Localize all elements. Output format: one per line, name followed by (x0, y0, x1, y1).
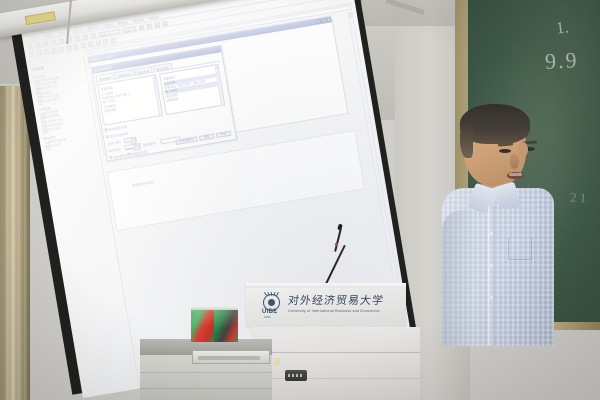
window-curtain (0, 86, 30, 400)
sort-order-select[interactable]: 按名称升序 (125, 143, 142, 151)
university-name-english: University of International Business and… (288, 309, 380, 313)
copy-icon[interactable] (75, 35, 81, 41)
number-list-icon[interactable] (66, 45, 72, 51)
open-folder-icon[interactable] (35, 42, 41, 48)
menu-item-tools[interactable]: 工具(T) (102, 21, 113, 28)
justify-icon[interactable] (51, 47, 57, 53)
lectern-handle[interactable] (274, 358, 280, 366)
checkbox-box-icon[interactable] (106, 135, 109, 138)
keyboard-tray[interactable] (192, 350, 270, 364)
housing-label-sticker (25, 11, 56, 25)
lectern-seam (250, 352, 420, 353)
menu-item-format[interactable]: 格式(O) (87, 24, 98, 31)
chalk-note-1: 1. (555, 17, 570, 38)
chalk-note-2: 9.9 (544, 47, 579, 75)
modal-dialog[interactable]: 基本信息维护 基本情况 详细资料 附加信息 备注说明 可选项目： (91, 45, 237, 162)
shirt-button (490, 232, 493, 235)
available-items-listbox[interactable]: 可选项目： 企业名称 注册地址 法定代表人 统一代码 行业类别 经营范围 (97, 74, 163, 125)
menu-item-file[interactable]: 文件(F) (28, 34, 39, 41)
product-box-right (214, 310, 238, 342)
print-icon[interactable] (51, 39, 57, 45)
save-icon[interactable] (43, 40, 49, 46)
chalk-note-3: 2 1 (569, 189, 586, 206)
scroll-thumb[interactable] (349, 13, 353, 18)
paste-icon[interactable] (82, 34, 88, 40)
zoom-icon[interactable] (110, 37, 116, 43)
product-box-left (191, 310, 214, 342)
bold-icon[interactable]: B (139, 24, 145, 30)
eye-left (499, 149, 511, 153)
selected-items-listbox[interactable]: 已选项目： 企业名称 注册地址 法定代表人 登记日期 统一代码 行业类别 经营范… (159, 64, 225, 115)
menu-item-insert[interactable]: 插入(I) (73, 27, 83, 33)
cabinet-seam (140, 372, 272, 373)
box-highlight (191, 310, 214, 342)
checkbox-box-icon[interactable] (109, 156, 112, 159)
new-document-icon[interactable] (27, 43, 33, 49)
underline-icon[interactable]: U (154, 22, 160, 28)
italic-icon[interactable]: I (147, 23, 153, 29)
highlight-icon[interactable] (95, 40, 101, 46)
ear (518, 142, 528, 157)
align-center-icon[interactable] (36, 50, 42, 56)
align-right-icon[interactable] (43, 48, 49, 54)
mouth (507, 172, 524, 179)
shirt-pocket (508, 238, 532, 260)
lectern-top-edge (246, 283, 406, 288)
menu-item-edit[interactable]: 编辑(E) (43, 31, 54, 38)
box-highlight (214, 310, 238, 342)
tree-group-basic[interactable]: 基本信息 单位基本情况表 法人登记信息 组织机构代码 税务登记 开户银行信息 联… (32, 66, 88, 104)
uibe-logo-icon: UIBE 1951 (262, 292, 284, 316)
university-name-chinese: 对外经济贸易大学 (287, 292, 385, 308)
border-icon[interactable] (88, 41, 94, 47)
menu-item-window[interactable]: 窗口(W) (132, 16, 144, 23)
table-icon[interactable] (103, 38, 109, 44)
window-controls[interactable] (316, 18, 330, 24)
minimize-icon[interactable] (316, 19, 321, 24)
arm-shadow (442, 210, 476, 346)
scroll-thumb[interactable] (153, 76, 156, 79)
hair-sideburn (460, 122, 473, 158)
lecture-hall-scene: 1. 9.9 2 1 文件(F) 编辑(E) 视图(V) 插入(I) 格式(O)… (0, 0, 600, 400)
maximize-icon[interactable] (321, 18, 326, 23)
menu-item-table[interactable]: 表格(A) (117, 19, 128, 26)
align-left-icon[interactable] (29, 51, 35, 57)
font-size-combo[interactable]: 五号 (123, 26, 137, 33)
print-preview-icon[interactable] (59, 38, 65, 44)
lectern-control-plate[interactable] (285, 370, 307, 381)
font-color-icon[interactable]: A (162, 20, 168, 26)
indent-icon[interactable] (73, 43, 79, 49)
logo-founding-year: 1951 (264, 315, 271, 319)
outdent-icon[interactable] (80, 42, 86, 48)
bullet-list-icon[interactable] (58, 46, 64, 52)
scroll-thumb[interactable] (215, 65, 218, 68)
inner-window-title: 数据录入 - 主窗口 (90, 54, 114, 62)
shirt-button (490, 296, 493, 299)
close-icon[interactable] (326, 18, 331, 23)
lectern-seam (250, 378, 420, 379)
display-rows-stepper[interactable]: 20 (124, 136, 138, 143)
undo-icon[interactable] (90, 32, 96, 38)
shirt-placket (488, 206, 495, 346)
nose (510, 154, 519, 169)
menu-item-help[interactable]: 帮助(H) (148, 14, 159, 21)
shirt-button (490, 264, 493, 267)
cabinet-seam (140, 388, 272, 389)
checkbox-box-icon[interactable] (104, 128, 107, 131)
presenter (438, 106, 556, 346)
